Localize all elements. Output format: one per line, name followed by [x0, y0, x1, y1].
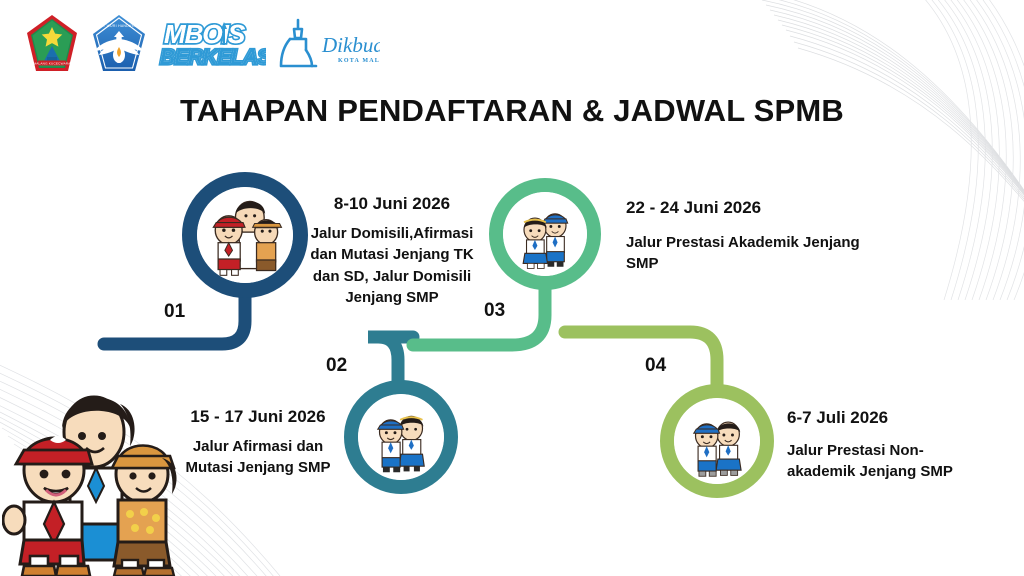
timeline-node-01[interactable] — [182, 172, 308, 298]
step-text-01: 8-10 Juni 2026 Jalur Domisili,Afirmasi d… — [297, 194, 487, 308]
step-description-04: Jalur Prestasi Non-akademik Jenjang SMP — [787, 440, 987, 483]
step-number-01: 01 — [164, 301, 185, 323]
timeline-node-04[interactable] — [660, 384, 774, 498]
slide-canvas: MALANG KUCECWARA TUT WURI HANDAYANI — [0, 0, 1024, 576]
step-number-02: 02 — [326, 355, 347, 377]
node-01-illustration — [197, 187, 293, 283]
timeline-node-02[interactable] — [344, 380, 458, 494]
timeline-node-03[interactable] — [489, 178, 601, 290]
step-description-01: Jalur Domisili,Afirmasi dan Mutasi Jenja… — [297, 223, 487, 308]
students-trio-illustration — [2, 384, 202, 576]
step-date-04: 6-7 Juli 2026 — [787, 408, 987, 428]
node-04-illustration — [674, 398, 760, 484]
step-date-03: 22 - 24 Juni 2026 — [626, 198, 876, 218]
step-description-03: Jalur Prestasi Akademik Jenjang SMP — [626, 232, 876, 275]
step-text-03: 22 - 24 Juni 2026 Jalur Prestasi Akademi… — [626, 198, 876, 275]
step-number-03: 03 — [484, 300, 505, 322]
node-03-illustration — [503, 192, 587, 276]
step-number-04: 04 — [645, 355, 666, 377]
step-date-01: 8-10 Juni 2026 — [297, 194, 487, 214]
step-text-04: 6-7 Juli 2026 Jalur Prestasi Non-akademi… — [787, 408, 987, 483]
node-02-illustration — [358, 394, 444, 480]
